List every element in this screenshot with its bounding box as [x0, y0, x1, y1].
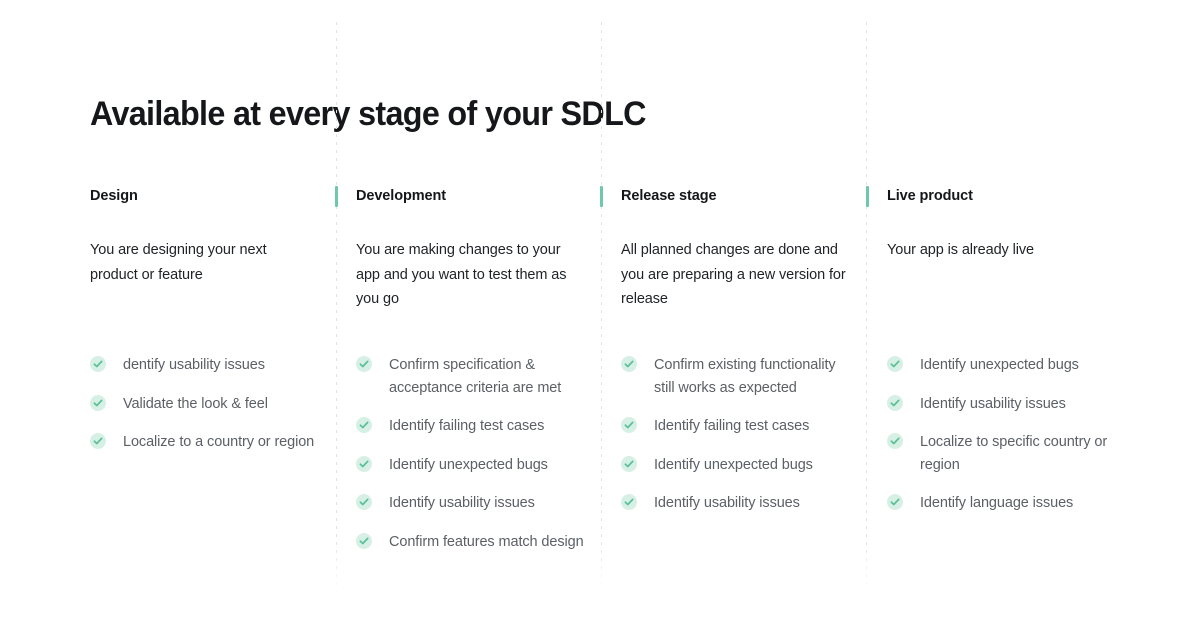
list-item: Identify failing test cases	[621, 415, 856, 438]
column-divider-3	[866, 22, 867, 607]
stage-header: Live product	[887, 186, 1119, 212]
stage-benefit-list: dentify usability issues Validate the lo…	[90, 354, 325, 470]
check-circle-icon	[356, 494, 372, 510]
list-item: Validate the look & feel	[90, 393, 325, 416]
check-circle-icon	[356, 533, 372, 549]
stage-benefit-list: Identify unexpected bugs Identify usabil…	[887, 354, 1122, 531]
stage-column-design: Design You are designing your next produ…	[90, 186, 322, 287]
check-circle-icon	[90, 356, 106, 372]
list-item: Identify usability issues	[356, 492, 591, 515]
list-item: Identify usability issues	[887, 393, 1122, 416]
check-circle-icon	[90, 395, 106, 411]
check-circle-icon	[356, 356, 372, 372]
stage-description: You are designing your next product or f…	[90, 238, 315, 287]
stage-column-development: Development You are making changes to yo…	[356, 186, 588, 312]
stage-column-release: Release stage All planned changes are do…	[621, 186, 853, 312]
list-item-label: Confirm existing functionality still wor…	[654, 357, 836, 396]
check-circle-icon	[887, 356, 903, 372]
check-circle-icon	[621, 456, 637, 472]
list-item: Confirm features match design	[356, 531, 591, 554]
stage-accent-bar	[600, 186, 603, 207]
list-item: Identify language issues	[887, 492, 1122, 515]
stage-title: Release stage	[621, 186, 853, 206]
check-circle-icon	[90, 433, 106, 449]
check-circle-icon	[621, 494, 637, 510]
list-item-label: Identify usability issues	[654, 495, 800, 511]
stage-header: Release stage	[621, 186, 853, 212]
stage-description: You are making changes to your app and y…	[356, 238, 581, 312]
stage-accent-bar	[335, 186, 338, 207]
stage-accent-bar	[866, 186, 869, 207]
list-item-label: Identify usability issues	[920, 396, 1066, 412]
list-item: Identify unexpected bugs	[621, 454, 856, 477]
list-item-label: dentify usability issues	[123, 357, 265, 373]
stage-benefit-list: Confirm specification & acceptance crite…	[356, 354, 591, 569]
list-item-label: Identify language issues	[920, 495, 1073, 511]
list-item-label: Confirm features match design	[389, 534, 584, 550]
list-item-label: Identify failing test cases	[389, 418, 544, 434]
list-item: Localize to a country or region	[90, 431, 325, 454]
list-item-label: Identify failing test cases	[654, 418, 809, 434]
stage-title: Live product	[887, 186, 1119, 206]
column-divider-1	[336, 22, 337, 607]
list-item-label: Localize to specific country or region	[920, 434, 1107, 473]
list-item-label: Identify unexpected bugs	[920, 357, 1079, 373]
list-item: Identify failing test cases	[356, 415, 591, 438]
check-circle-icon	[621, 417, 637, 433]
list-item: Confirm specification & acceptance crite…	[356, 354, 591, 399]
list-item-label: Localize to a country or region	[123, 434, 314, 450]
list-item: Localize to specific country or region	[887, 431, 1122, 476]
page-title: Available at every stage of your SDLC	[90, 95, 646, 134]
stage-title: Development	[356, 186, 588, 206]
check-circle-icon	[887, 395, 903, 411]
check-circle-icon	[887, 433, 903, 449]
stage-description: Your app is already live	[887, 238, 1112, 263]
column-divider-2	[601, 22, 602, 607]
list-item: Identify unexpected bugs	[356, 454, 591, 477]
list-item-label: Identify unexpected bugs	[389, 457, 548, 473]
check-circle-icon	[356, 456, 372, 472]
stage-column-live-product: Live product Your app is already live Id…	[887, 186, 1119, 263]
list-item-label: Identify unexpected bugs	[654, 457, 813, 473]
list-item: Confirm existing functionality still wor…	[621, 354, 856, 399]
list-item-label: Identify usability issues	[389, 495, 535, 511]
check-circle-icon	[356, 417, 372, 433]
slide-canvas: Available at every stage of your SDLC De…	[0, 0, 1200, 630]
stage-description: All planned changes are done and you are…	[621, 238, 846, 312]
list-item: Identify unexpected bugs	[887, 354, 1122, 377]
check-circle-icon	[621, 356, 637, 372]
list-item-label: Validate the look & feel	[123, 396, 268, 412]
stage-benefit-list: Confirm existing functionality still wor…	[621, 354, 856, 531]
list-item: dentify usability issues	[90, 354, 325, 377]
stage-header: Development	[356, 186, 588, 212]
check-circle-icon	[887, 494, 903, 510]
list-item-label: Confirm specification & acceptance crite…	[389, 357, 561, 396]
stage-title: Design	[90, 186, 322, 206]
stage-header: Design	[90, 186, 322, 212]
list-item: Identify usability issues	[621, 492, 856, 515]
